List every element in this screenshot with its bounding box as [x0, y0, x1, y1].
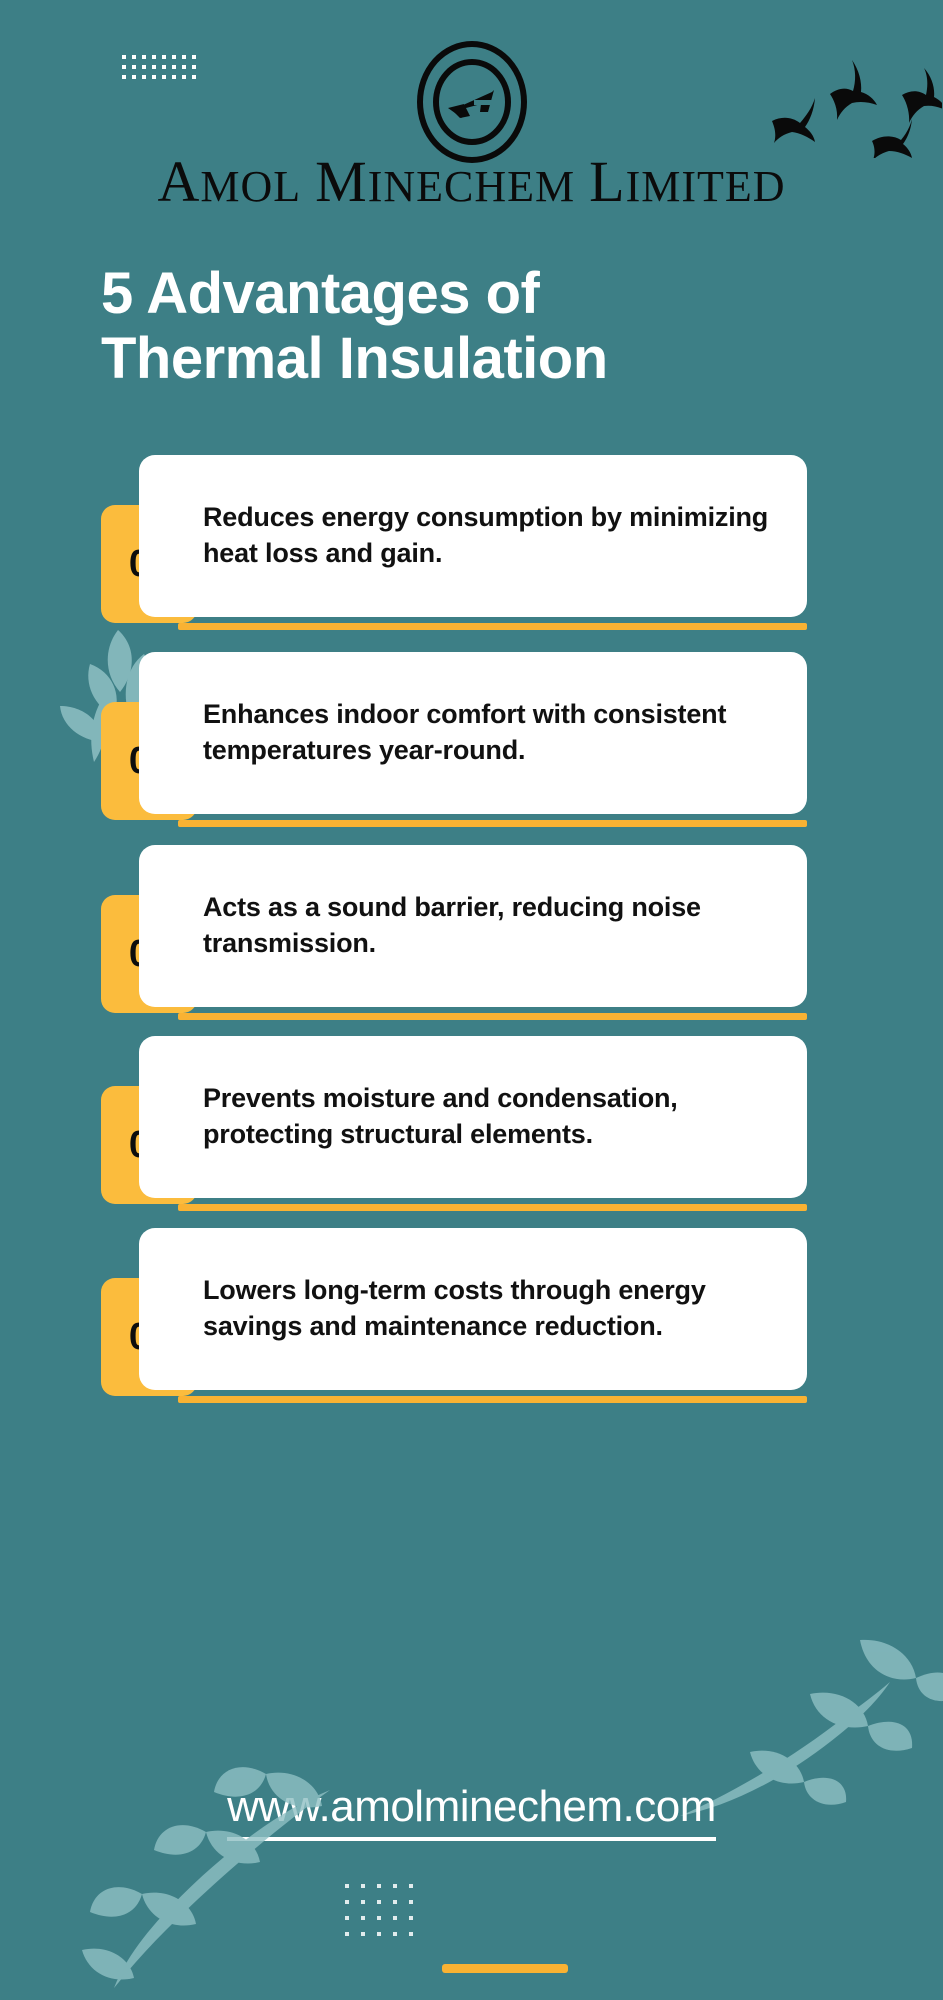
- card-accent-bar: [178, 623, 807, 630]
- yellow-accent-bar: [442, 1964, 568, 1973]
- advantage-text: Reduces energy consumption by minimizing…: [139, 482, 807, 589]
- advantage-card[interactable]: Prevents moisture and condensation, prot…: [139, 1036, 807, 1198]
- advantage-text: Acts as a sound barrier, reducing noise …: [139, 872, 807, 979]
- advantage-text: Lowers long-term costs through energy sa…: [139, 1255, 807, 1362]
- advantage-item: 05 Lowers long-term costs through energy…: [101, 1228, 843, 1403]
- advantage-item: 03 Acts as a sound barrier, reducing noi…: [101, 845, 843, 1020]
- advantage-text: Enhances indoor comfort with consistent …: [139, 679, 807, 786]
- advantage-card[interactable]: Lowers long-term costs through energy sa…: [139, 1228, 807, 1390]
- leaf-branch-icon: [30, 1730, 360, 2000]
- advantage-card[interactable]: Reduces energy consumption by minimizing…: [139, 455, 807, 617]
- card-accent-bar: [178, 1204, 807, 1211]
- circular-a-monogram-logo: [408, 38, 536, 166]
- advantage-text: Prevents moisture and condensation, prot…: [139, 1063, 807, 1170]
- card-accent-bar: [178, 820, 807, 827]
- advantage-item: 01 Reduces energy consumption by minimiz…: [101, 455, 843, 630]
- brand-name: AMOL MINECHEM LIMITED: [0, 150, 943, 214]
- advantage-card[interactable]: Enhances indoor comfort with consistent …: [139, 652, 807, 814]
- card-accent-bar: [178, 1396, 807, 1403]
- advantage-card[interactable]: Acts as a sound barrier, reducing noise …: [139, 845, 807, 1007]
- page-title: 5 Advantages of Thermal Insulation: [101, 262, 841, 392]
- dot-grid-icon: [122, 55, 202, 85]
- card-accent-bar: [178, 1013, 807, 1020]
- dot-grid-icon: [345, 1884, 425, 1948]
- leaf-branch-icon: [560, 1620, 943, 1880]
- advantage-item: 04 Prevents moisture and condensation, p…: [101, 1036, 843, 1211]
- page-title-line-2: Thermal Insulation: [101, 327, 841, 392]
- infographic-canvas: AMOL MINECHEM LIMITED 5 Advantages of Th…: [0, 0, 943, 2000]
- page-title-line-1: 5 Advantages of: [101, 262, 841, 327]
- flying-birds-decoration: [752, 38, 942, 158]
- advantage-item: 02 Enhances indoor comfort with consiste…: [101, 652, 843, 827]
